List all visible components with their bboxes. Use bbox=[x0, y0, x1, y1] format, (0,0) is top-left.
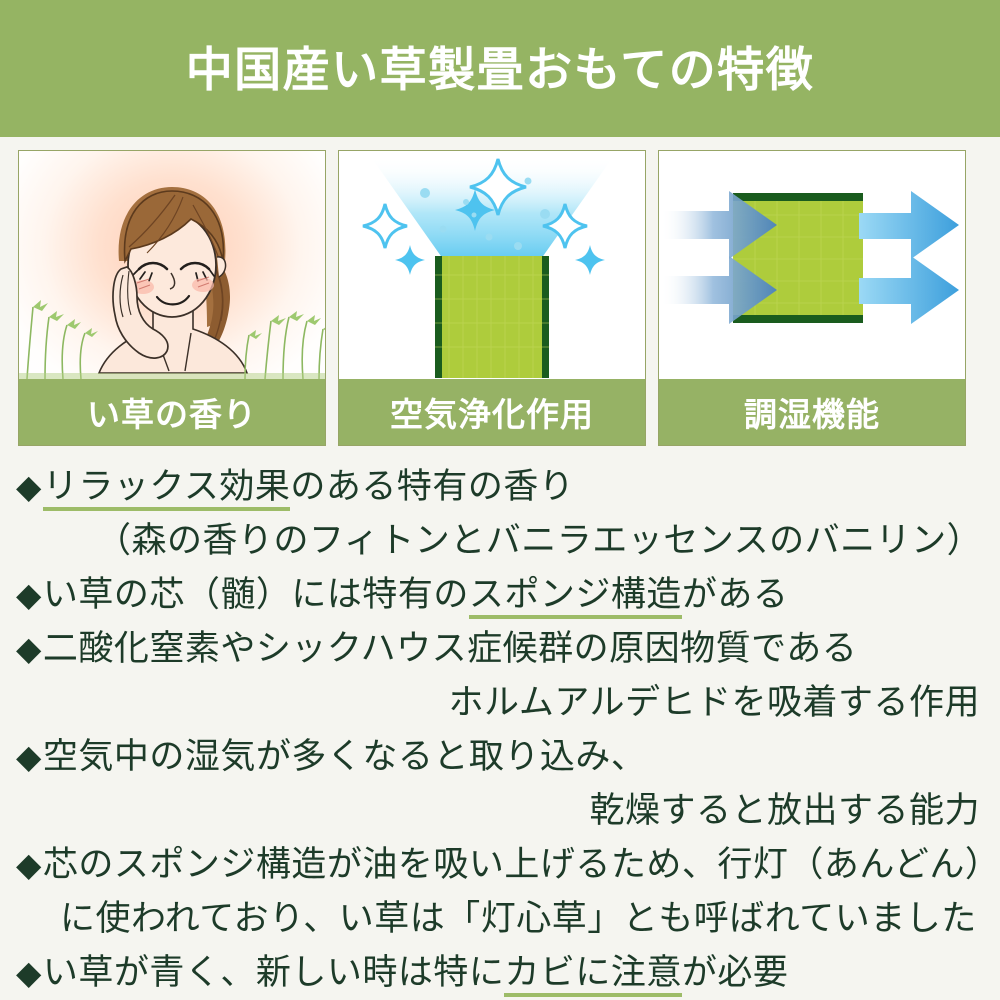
feature-line: （森の香りのフィトンとバニラエッセンスのバニリン） bbox=[16, 514, 984, 568]
highlighted-phrase: リラックス効果 bbox=[43, 467, 290, 511]
feature-text: い草の芯（髄）には特有の bbox=[43, 575, 469, 614]
feature-line: ホルムアルデヒドを吸着する作用 bbox=[16, 676, 984, 730]
feature-line: ◆空気中の湿気が多くなると取り込み、 bbox=[16, 730, 984, 784]
tatami-mat-vertical bbox=[339, 151, 645, 379]
card-label-air-purification: 空気浄化作用 bbox=[339, 379, 645, 445]
card-label-scent: い草の香り bbox=[19, 379, 325, 445]
feature-text: 二酸化窒素やシックハウス症候群の原因物質である bbox=[43, 629, 857, 668]
feature-line: に使われており、い草は「灯心草」とも呼ばれていました bbox=[16, 892, 984, 946]
feature-text: い草が青く、新しい時は特に bbox=[43, 953, 505, 992]
diamond-bullet-icon: ◆ bbox=[16, 738, 42, 775]
diamond-bullet-icon: ◆ bbox=[16, 846, 42, 883]
tatami-airflow-arrows-illustration bbox=[659, 151, 965, 379]
highlighted-phrase: カビに注意 bbox=[504, 953, 682, 997]
highlighted-phrase: スポンジ構造 bbox=[469, 575, 682, 619]
feature-line: ◆い草の芯（髄）には特有のスポンジ構造がある bbox=[16, 568, 984, 622]
feature-line: ◆芯のスポンジ構造が油を吸い上げるため、行灯（あんどん） bbox=[16, 838, 984, 892]
diamond-bullet-icon: ◆ bbox=[16, 954, 42, 991]
feature-text-list: ◆リラックス効果のある特有の香り（森の香りのフィトンとバニラエッセンスのバニリン… bbox=[0, 460, 1000, 1000]
diamond-bullet-icon: ◆ bbox=[16, 576, 42, 613]
feature-text: が必要 bbox=[682, 953, 789, 992]
feature-text: ホルムアルデヒドを吸着する作用 bbox=[449, 683, 980, 722]
feature-text: のある特有の香り bbox=[290, 467, 574, 506]
feature-card-row: い草の香り bbox=[0, 137, 1000, 446]
feature-text: 空気中の湿気が多くなると取り込み、 bbox=[43, 737, 647, 776]
rush-grass-illustration bbox=[19, 259, 325, 379]
feature-line: ◆い草が青く、新しい時は特にカビに注意が必要 bbox=[16, 946, 984, 1000]
feature-text: に使われており、い草は「灯心草」とも呼ばれていました bbox=[60, 899, 977, 938]
feature-card-air-purification[interactable]: 空気浄化作用 bbox=[338, 150, 646, 446]
tatami-sparkles-illustration bbox=[339, 151, 645, 379]
airflow-graphic bbox=[659, 151, 965, 379]
feature-text: 芯のスポンジ構造が油を吸い上げるため、行灯（あんどん） bbox=[43, 845, 1000, 884]
feature-text: 乾燥すると放出する能力 bbox=[589, 791, 980, 830]
card-label-humidity: 調湿機能 bbox=[659, 379, 965, 445]
diamond-bullet-icon: ◆ bbox=[16, 630, 42, 667]
feature-text: （森の香りのフィトンとバニラエッセンスのバニリン） bbox=[96, 521, 982, 560]
feature-line: 乾燥すると放出する能力 bbox=[16, 784, 984, 838]
feature-line: ◆二酸化窒素やシックハウス症候群の原因物質である bbox=[16, 622, 984, 676]
page-header: 中国産い草製畳おもての特徴 bbox=[0, 0, 1000, 137]
feature-line: ◆リラックス効果のある特有の香り bbox=[16, 460, 984, 514]
relaxing-woman-illustration bbox=[19, 151, 325, 379]
feature-card-scent[interactable]: い草の香り bbox=[18, 150, 326, 446]
feature-card-humidity[interactable]: 調湿機能 bbox=[658, 150, 966, 446]
diamond-bullet-icon: ◆ bbox=[16, 468, 42, 505]
feature-text: がある bbox=[682, 575, 789, 614]
page-title: 中国産い草製畳おもての特徴 bbox=[186, 46, 815, 93]
poster-root: 中国産い草製畳おもての特徴 bbox=[0, 0, 1000, 1000]
